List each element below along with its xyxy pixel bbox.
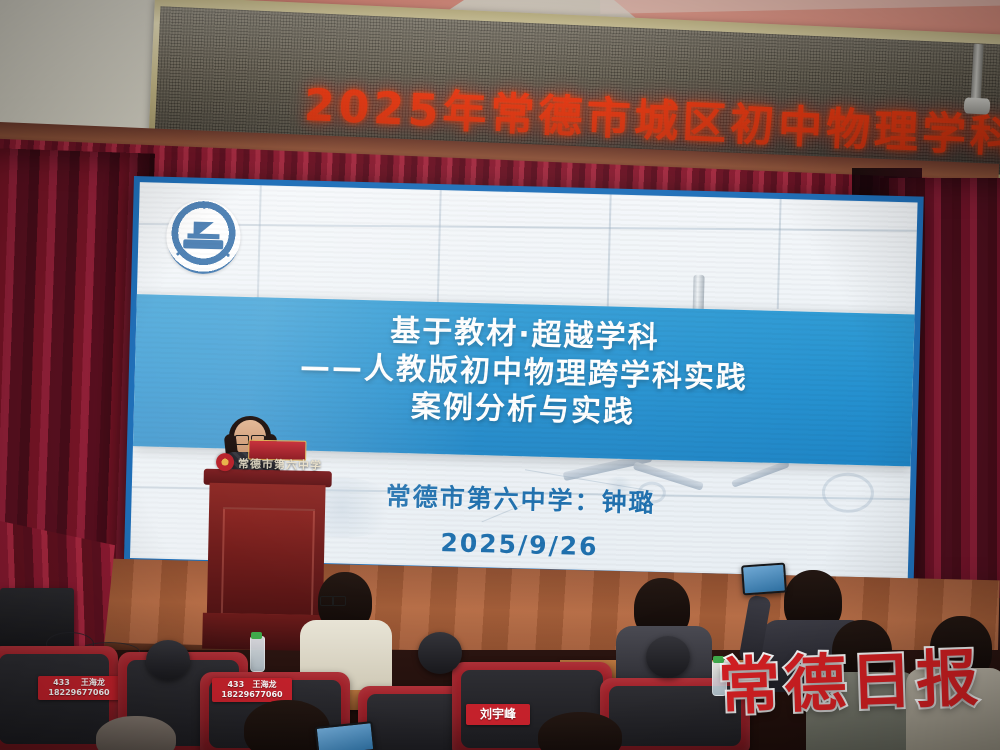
seat-tag-phone: 18229677060: [41, 688, 117, 698]
seat-tag-line-1: 433 王海龙: [41, 678, 117, 688]
seat-tag-number: 433: [53, 678, 70, 687]
foreground-head-3: [96, 716, 176, 750]
hanging-light-head: [964, 97, 991, 114]
seat-tag-line-1: 433 王海龙: [215, 680, 289, 690]
lectern-panel: [221, 507, 315, 617]
newspaper-watermark: 常德日报: [716, 627, 983, 726]
seat-tag-name: 刘宇峰: [480, 707, 516, 721]
seat-headrest: [646, 636, 690, 678]
seat-tag-number: 433: [227, 680, 244, 689]
lectern-body: [207, 483, 326, 617]
crest-page: [187, 233, 219, 239]
seat-tag-name: 王海龙: [253, 680, 277, 689]
foreground-phone: [315, 721, 376, 750]
seat-tag-phone: 18229677060: [215, 690, 289, 700]
seat-headrest: [146, 640, 190, 680]
seat-tag: 433 王海龙 18229677060: [38, 676, 120, 700]
foreground-head-2: [538, 712, 622, 750]
crest-book: [183, 239, 223, 249]
crest-core: [183, 221, 224, 252]
water-bottle-cap: [251, 632, 262, 639]
seat-tag-placard: 刘宇峰: [466, 704, 530, 725]
audience-phone: [741, 563, 787, 596]
seat-headrest: [418, 632, 462, 674]
seat-tag: 433 王海龙 18229677060: [212, 678, 292, 702]
seat-tag-name: 王海龙: [81, 678, 105, 687]
lectern-school-text: 常德市第六中学: [238, 455, 322, 473]
water-bottle: [250, 636, 265, 672]
audience-glasses: [320, 596, 346, 604]
auditorium-photo: 2025年常德市城区初中物理学科集中研: [0, 0, 1000, 750]
